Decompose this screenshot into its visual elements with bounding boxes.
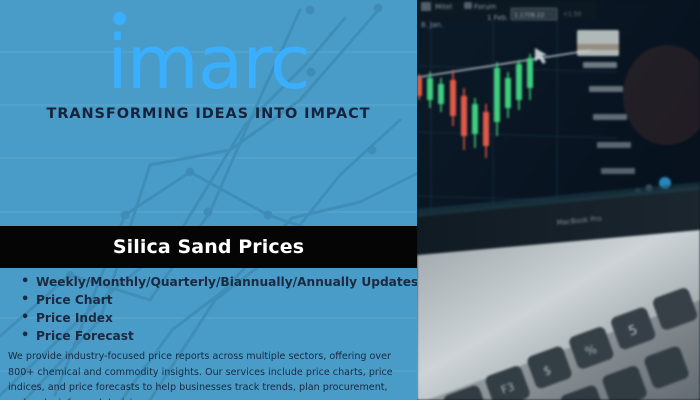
page-title: Silica Sand Prices: [113, 236, 304, 258]
price-label: [601, 168, 635, 174]
toolbar-value-text: 1.1708.22: [514, 12, 545, 19]
toolbar-label-forum: Forum: [474, 3, 496, 11]
price-label: [589, 86, 623, 92]
price-label: [597, 142, 631, 148]
price-highlight-box: [577, 30, 619, 56]
description-text: We provide industry-focused price report…: [8, 349, 408, 400]
left-info-panel: imarc TRANSFORMING IDEAS INTO IMPACT Sil…: [0, 0, 417, 400]
brand-logo: imarc TRANSFORMING IDEAS INTO IMPACT: [0, 30, 417, 122]
logo-wordmark-wrapper: imarc: [107, 30, 309, 97]
list-item: Price Chart: [36, 292, 417, 309]
brand-tagline: TRANSFORMING IDEAS INTO IMPACT: [0, 106, 417, 122]
toolbar-value-secondary: +1.50: [563, 11, 582, 18]
price-label: [593, 114, 627, 120]
price-highlight-underline: [577, 44, 619, 50]
list-item: Price Forecast: [36, 328, 417, 345]
list-item: Price Index: [36, 310, 417, 327]
list-item: Weekly/Monthly/Quarterly/Biannually/Annu…: [36, 274, 417, 291]
feature-list: Weekly/Monthly/Quarterly/Biannually/Annu…: [0, 274, 417, 346]
photo-blur-wrapper: Mitel Forum 8. Jan. 1 Feb. 1.1708.22 +1.…: [417, 0, 700, 400]
product-title-bar: Silica Sand Prices: [0, 226, 417, 268]
price-label: [583, 62, 617, 68]
price-report-banner: imarc TRANSFORMING IDEAS INTO IMPACT Sil…: [0, 0, 700, 400]
toolbar-forum-icon: [464, 2, 472, 9]
toolbar-label-date-feb: 1 Feb.: [487, 14, 508, 22]
photo-illustration: Mitel Forum 8. Jan. 1 Feb. 1.1708.22 +1.…: [417, 0, 700, 400]
trading-chart-photo: Mitel Forum 8. Jan. 1 Feb. 1.1708.22 +1.…: [417, 0, 700, 400]
toolbar-label-mitel: Mitel: [435, 3, 452, 11]
toolbar-chart-icon: [421, 2, 431, 11]
logo-text: imarc: [107, 20, 309, 106]
toolbar-label-date-jan: 8. Jan.: [421, 21, 443, 29]
